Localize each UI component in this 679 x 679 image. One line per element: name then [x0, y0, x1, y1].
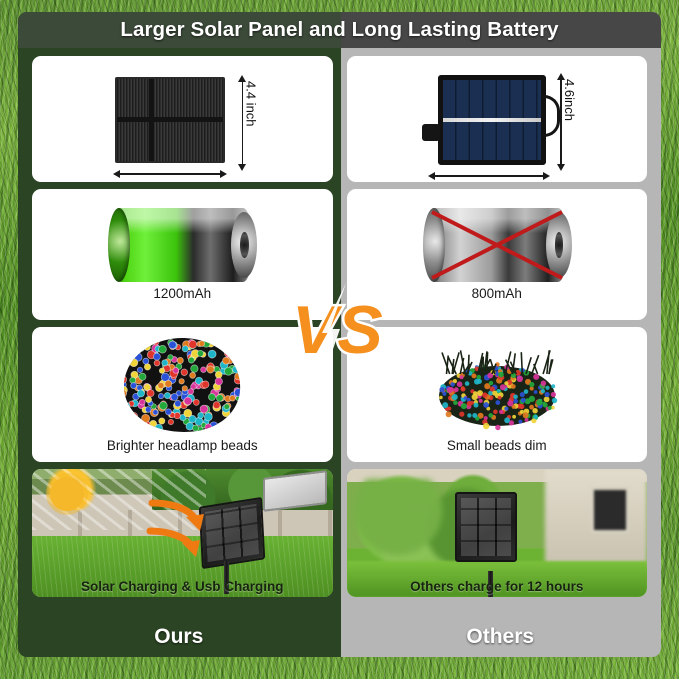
ours-width-dimension-arrow [113, 167, 227, 181]
solar-device [199, 497, 265, 569]
ours-battery-card: 1200mAh [32, 189, 333, 320]
others-beads-caption: Small beads dim [447, 438, 547, 453]
content-area: 5.4 inch 4.4 inch 1200mAh [18, 48, 661, 617]
ours-beads-card: Brighter headlamp beads [32, 327, 333, 462]
ours-solar-panel-card: 5.4 inch 4.4 inch [32, 56, 333, 182]
bush [347, 479, 551, 569]
ours-solar-panel-figure: 5.4 inch 4.4 inch [77, 69, 287, 169]
ours-charging-card: Solar Charging & Usb Charging [32, 469, 333, 597]
battery-low-icon [426, 208, 568, 282]
others-height-label: 4.6inch [562, 79, 577, 121]
others-charging-card: Others charge for 12 hours [347, 469, 648, 597]
ours-battery-capacity: 1200mAh [153, 286, 211, 301]
others-label: Others [340, 625, 662, 649]
led-string-bundle-icon [421, 336, 573, 434]
ours-width-label: 5.4 inch [131, 181, 178, 182]
ours-column: 5.4 inch 4.4 inch 1200mAh [18, 48, 340, 617]
red-cross-icon [420, 202, 574, 288]
others-charging-photo: Others charge for 12 hours [347, 469, 648, 597]
others-charging-caption: Others charge for 12 hours [347, 579, 648, 594]
others-battery-capacity: 800mAh [472, 286, 522, 301]
title-bar: Larger Solar Panel and Long Lasting Batt… [18, 12, 661, 48]
solar-device [455, 492, 517, 562]
others-beads-card: Small beads dim [347, 327, 648, 462]
battery-full-icon [111, 208, 253, 282]
page-title: Larger Solar Panel and Long Lasting Batt… [120, 18, 558, 42]
ours-beads-caption: Brighter headlamp beads [107, 438, 258, 453]
others-solar-panel-figure: 4.6 inch 4.6inch [392, 69, 602, 169]
ours-charging-caption: Solar Charging & Usb Charging [32, 579, 333, 594]
ours-height-label: 4.4 inch [243, 81, 258, 127]
others-battery-card: 800mAh [347, 189, 648, 320]
sun-icon [50, 477, 84, 511]
ours-charging-photo: Solar Charging & Usb Charging [32, 469, 333, 597]
window [591, 487, 629, 533]
curved-arrow-icon [146, 497, 206, 563]
others-column: 4.6 inch 4.6inch [340, 48, 662, 617]
footer: Ours Others [18, 617, 661, 657]
ours-label: Ours [18, 625, 340, 649]
comparison-panel: Larger Solar Panel and Long Lasting Batt… [18, 12, 661, 657]
solar-panel-icon [115, 77, 225, 163]
others-width-label: 4.6 inch [448, 181, 495, 182]
solar-panel-icon [438, 75, 546, 165]
plug-icon [422, 124, 440, 141]
led-bead-cluster-icon [120, 336, 245, 434]
others-solar-panel-card: 4.6 inch 4.6inch [347, 56, 648, 182]
